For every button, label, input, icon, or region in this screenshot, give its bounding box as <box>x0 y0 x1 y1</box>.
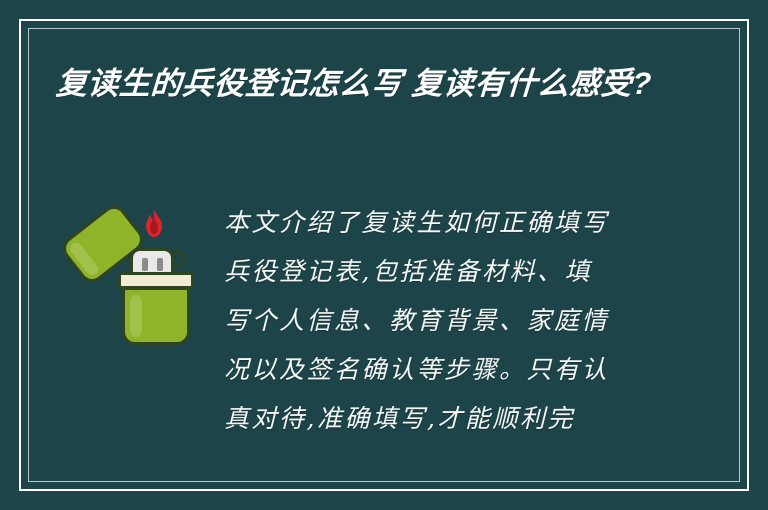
chimney-slot-left <box>142 258 148 271</box>
flame-icon <box>144 210 164 238</box>
content-area: 本文介绍了复读生如何正确填写 兵役登记表,包括准备材料、填 写个人信息、教育背景… <box>50 196 718 470</box>
page-title: 复读生的兵役登记怎么写 复读有什么感受? <box>55 62 657 106</box>
lighter-body <box>122 287 190 345</box>
chimney-slot-right <box>157 258 163 271</box>
body-copy: 本文介绍了复读生如何正确填写 兵役登记表,包括准备材料、填 写个人信息、教育背景… <box>210 196 718 443</box>
body-line: 兵役登记表,包括准备材料、填 <box>224 247 718 296</box>
body-line: 况以及签名确认等步骤。只有认 <box>224 345 718 394</box>
body-line: 本文介绍了复读生如何正确填写 <box>224 198 718 247</box>
body-line: 真对待,准确填写,才能顺利完 <box>224 394 718 443</box>
poster-card: { "theme": { "background": "#1d4449", "f… <box>0 0 768 510</box>
lighter-icon <box>60 204 200 354</box>
body-line: 写个人信息、教育背景、家庭情 <box>224 296 718 345</box>
illustration-area <box>50 196 210 354</box>
